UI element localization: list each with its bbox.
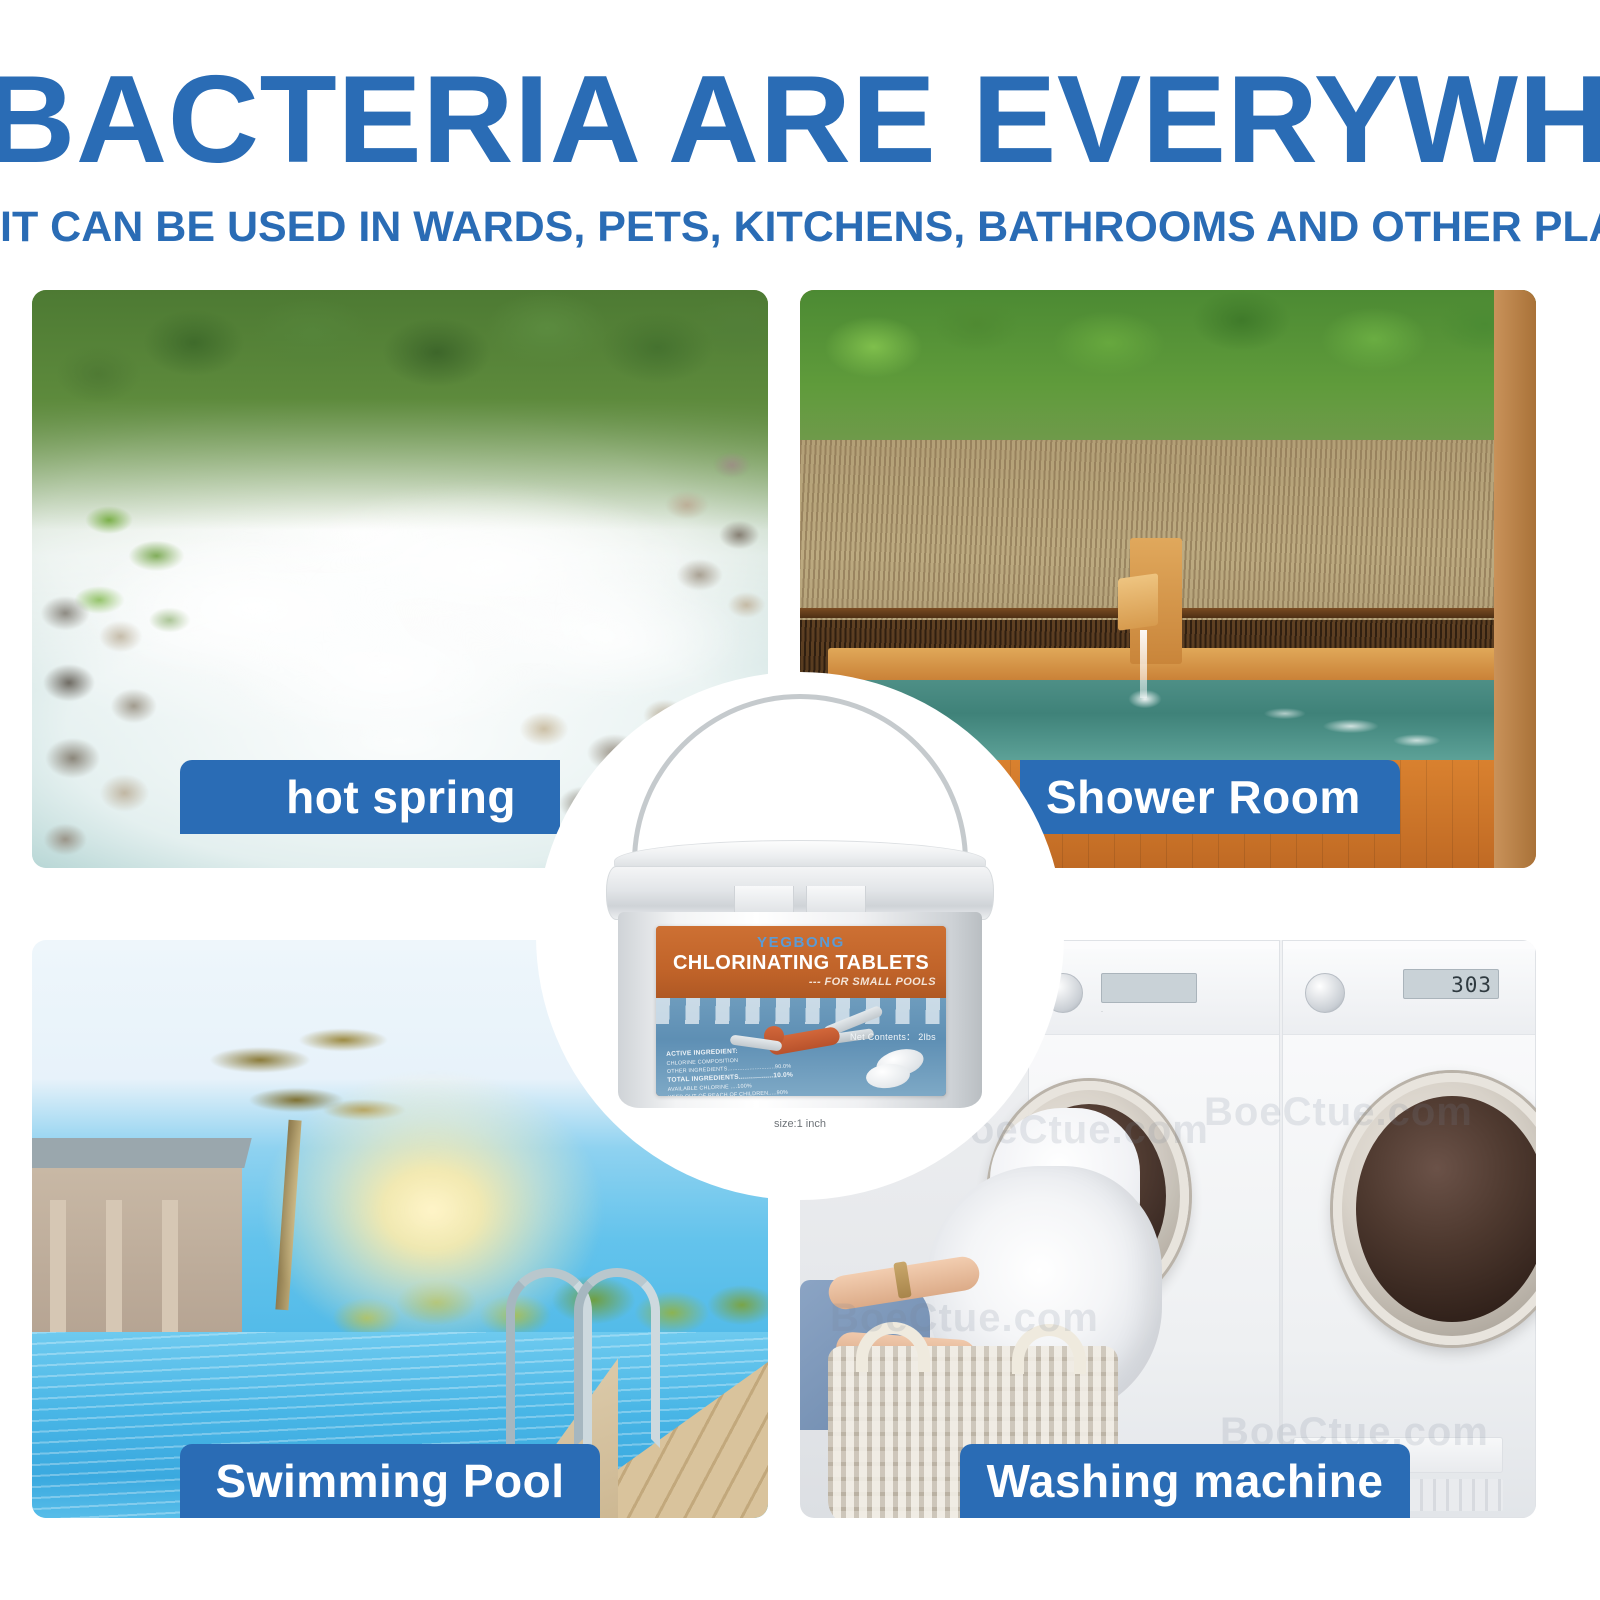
washer-display-value: 303: [1451, 973, 1492, 997]
caption-label: Swimming Pool: [216, 1454, 565, 1508]
product-label: YEGBONG CHLORINATING TABLETS --- FOR SMA…: [656, 926, 946, 1096]
panel-label-left: ·: [1101, 1009, 1103, 1015]
tablet-icons: [866, 1050, 932, 1090]
program-dial-icon: [1305, 973, 1345, 1013]
display-left: [1101, 973, 1197, 1003]
caption-swimming-pool[interactable]: Swimming Pool: [180, 1444, 600, 1518]
product-subtitle: --- FOR SMALL POOLS: [809, 976, 936, 988]
wooden-post: [1494, 290, 1536, 868]
brand-name: YEGBONG: [656, 934, 946, 951]
page-subtitle: IT CAN BE USED IN WARDS, PETS, KITCHENS,…: [0, 206, 1600, 249]
watermark: BoeCtue.com: [1204, 1090, 1473, 1135]
control-panel-left: ·: [1029, 949, 1279, 1035]
net-contents: Net Contents： 2lbs: [850, 1030, 936, 1043]
caption-washing-machine[interactable]: Washing machine: [960, 1444, 1410, 1518]
display-right: 303: [1403, 969, 1499, 999]
lid-tab-2: [806, 886, 866, 914]
bucket-handle: [632, 694, 968, 862]
header-block: BACTERIA ARE EVERYWHERE IT CAN BE USED I…: [0, 0, 1600, 249]
spout-chute: [1118, 573, 1158, 631]
ingredient-fine-print: ACTIVE INGREDIENT: CHLORINE COMPOSITION …: [666, 1042, 845, 1096]
product-title: CHLORINATING TABLETS: [656, 952, 946, 975]
pool-ladder-rail-2: [574, 1268, 660, 1448]
caption-hot-spring[interactable]: hot spring: [180, 760, 560, 834]
page-title: BACTERIA ARE EVERYWHERE: [0, 58, 1600, 182]
caption-label: Washing machine: [987, 1454, 1384, 1508]
caption-label: hot spring: [286, 770, 516, 824]
lid-tab-1: [734, 886, 794, 914]
product-poster: BACTERIA ARE EVERYWHERE IT CAN BE USED I…: [0, 0, 1600, 1600]
caption-label: Shower Room: [1046, 770, 1361, 824]
bucket-body: YEGBONG CHLORINATING TABLETS --- FOR SMA…: [618, 912, 982, 1108]
water-splash: [1122, 686, 1168, 712]
caption-shower-room[interactable]: Shower Room: [1020, 760, 1400, 834]
tablet-icon-2: [865, 1062, 911, 1090]
control-panel-right: 303: [1283, 949, 1535, 1035]
tablet-size-label: size:1 inch: [618, 1118, 982, 1130]
product-bucket[interactable]: YEGBONG CHLORINATING TABLETS --- FOR SMA…: [600, 690, 1000, 1110]
watermark: BoeCtue.com: [830, 1296, 1099, 1341]
